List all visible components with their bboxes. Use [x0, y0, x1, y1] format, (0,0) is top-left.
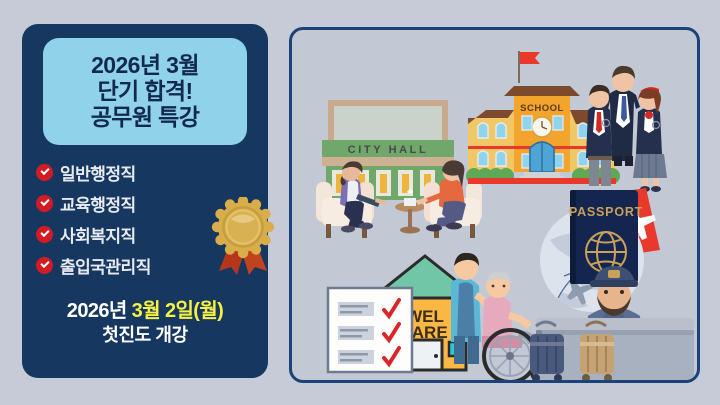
list-item-label: 일반행정직: [60, 160, 136, 185]
date-highlight: 3월 2일(월): [132, 300, 224, 322]
passport-label-text: PASSPORT: [569, 205, 643, 219]
poster-root: 2026년 3월 단기 합격! 공무원 특강 일반행정직 교육행정직 사회복지직…: [0, 0, 720, 405]
title-line-3: 공무원 특강: [91, 105, 200, 130]
list-item: 출입국관리직: [36, 250, 216, 281]
check-circle-icon: [36, 226, 53, 243]
illustration-panel: CITY HALL: [289, 27, 700, 383]
check-circle-icon: [36, 195, 53, 212]
city-hall-sign-text: CITY HALL: [348, 144, 429, 156]
list-item: 사회복지직: [36, 219, 216, 250]
list-item: 교육행정직: [36, 188, 216, 219]
date-subtitle: 첫진도 개강: [22, 323, 268, 348]
award-medal-icon: [211, 197, 275, 275]
illustration-collage: CITY HALL: [292, 30, 697, 380]
checklist-document: [328, 288, 412, 372]
title-banner: 2026년 3월 단기 합격! 공무원 특강: [43, 38, 247, 145]
date-prefix: 2026년: [67, 300, 127, 322]
list-item-label: 사회복지직: [60, 222, 136, 247]
check-circle-icon: [36, 257, 53, 274]
school-sign-text: SCHOOL: [520, 103, 564, 114]
date-line: 2026년 3월 2일(월): [22, 299, 268, 323]
course-start-date: 2026년 3월 2일(월) 첫진도 개강: [22, 299, 268, 349]
list-item-label: 교육행정직: [60, 191, 136, 216]
students-and-teacher-group: [586, 66, 667, 192]
list-item-label: 출입국관리직: [60, 253, 151, 278]
title-line-2: 단기 합격!: [97, 79, 192, 104]
course-track-list: 일반행정직 교육행정직 사회복지직 출입국관리직: [36, 157, 216, 281]
left-info-card: 2026년 3월 단기 합격! 공무원 특강 일반행정직 교육행정직 사회복지직…: [22, 24, 268, 378]
student-boy-figure: [586, 85, 612, 186]
check-circle-icon: [36, 164, 53, 181]
title-line-1: 2026년 3월: [91, 53, 199, 78]
list-item: 일반행정직: [36, 157, 216, 188]
